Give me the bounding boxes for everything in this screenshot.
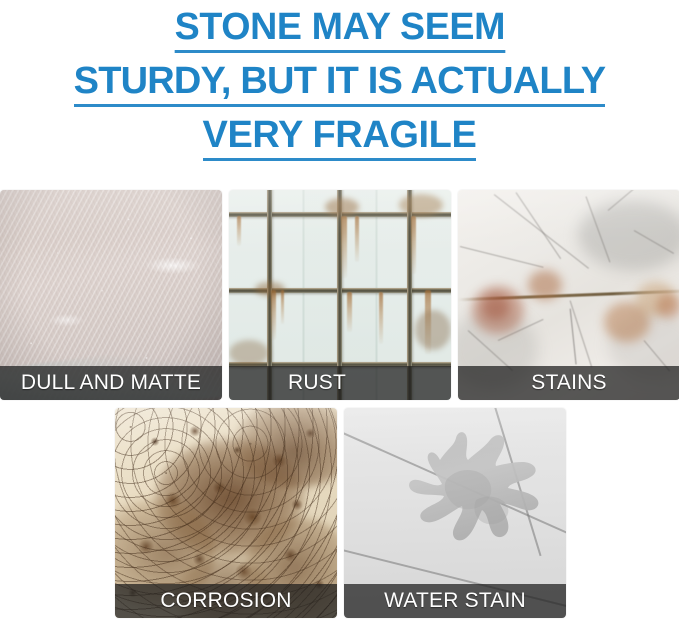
gallery-row-bottom: CORROSION [0, 408, 679, 618]
headline-line-2-text: STURDY, BUT IT IS ACTUALLY [74, 62, 606, 107]
headline-line-1: STONE MAY SEEM [0, 8, 679, 53]
rust-blotch [399, 194, 443, 216]
headline-line-2: STURDY, BUT IT IS ACTUALLY [0, 62, 679, 107]
tile-caption-dull-and-matte: DULL AND MATTE [0, 366, 222, 400]
gallery-tile-rust[interactable]: RUST [229, 190, 451, 400]
rust-streak [237, 216, 241, 246]
rust-streak [341, 216, 347, 278]
rust-streak [271, 290, 276, 340]
rust-streak [347, 292, 352, 332]
damage-gallery: DULL AND MATTE [0, 190, 679, 626]
marble-vein [516, 192, 562, 259]
page-title: STONE MAY SEEM STURDY, BUT IT IS ACTUALL… [0, 0, 679, 161]
tile-caption-stains: STAINS [458, 366, 679, 400]
rust-stain [482, 294, 510, 320]
gallery-row-top: DULL AND MATTE [0, 190, 679, 400]
gallery-tile-corrosion[interactable]: CORROSION [115, 408, 337, 618]
rust-streak [411, 216, 416, 274]
rust-blotch [255, 282, 285, 296]
tile-caption-water-stain: WATER STAIN [344, 584, 566, 618]
headline-line-3: VERY FRAGILE [0, 116, 679, 161]
gallery-tile-dull-and-matte[interactable]: DULL AND MATTE [0, 190, 222, 400]
tile-caption-rust: RUST [229, 366, 451, 400]
rust-stain [528, 270, 562, 300]
rust-streak [355, 216, 359, 262]
rust-streak [379, 292, 383, 344]
rust-stain [656, 294, 679, 318]
rust-streak [281, 290, 284, 324]
gallery-tile-stains[interactable]: STAINS [458, 190, 679, 400]
marble-vein [460, 246, 544, 268]
rust-blotch [229, 340, 269, 366]
gallery-tile-water-stain[interactable]: WATER STAIN [344, 408, 566, 618]
rust-blotch [415, 310, 451, 350]
tile-caption-corrosion: CORROSION [115, 584, 337, 618]
rust-blotch [325, 198, 359, 216]
headline-line-3-text: VERY FRAGILE [203, 116, 477, 161]
headline-line-1-text: STONE MAY SEEM [174, 8, 504, 53]
marble-cloud [578, 200, 679, 270]
